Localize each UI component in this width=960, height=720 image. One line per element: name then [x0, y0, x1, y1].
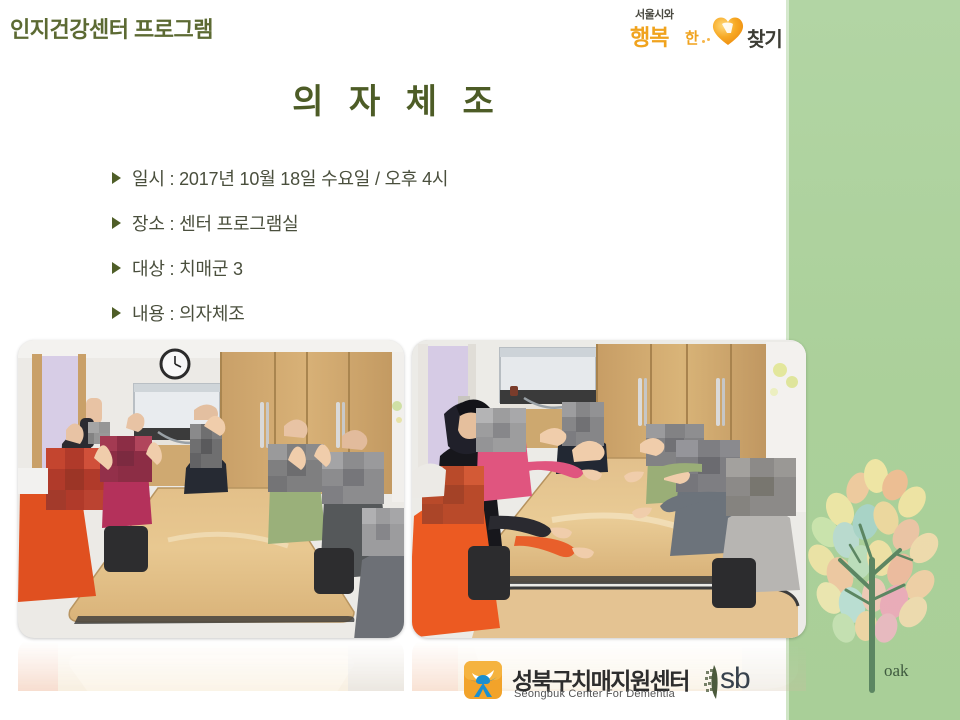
slide-main-title: 의 자 체 조 — [0, 74, 786, 123]
triangle-bullet-icon — [112, 172, 132, 184]
footer-logo-en-label: Seongbuk Center For Dementia — [514, 688, 675, 700]
list-item-label: 대상 : 치매군 3 — [132, 255, 243, 281]
seoul-happy-logo: 서울시와 행복 한 찾기 — [627, 6, 785, 50]
list-item-label: 내용 : 의자체조 — [132, 300, 245, 326]
page-title: 인지건강센터 프로그램 — [10, 12, 213, 44]
photo-left-reflection — [18, 639, 404, 691]
slide-canvas: oak 인지건강센터 프로그램 서울시와 행복 한 찾기 의 — [0, 0, 960, 720]
tree-word-label: oak — [884, 661, 909, 680]
person-check-logo-icon — [462, 659, 504, 701]
list-item-label: 일시 : 2017년 10월 18일 수요일 / 오후 4시 — [132, 165, 448, 191]
triangle-bullet-icon — [112, 217, 132, 229]
seoul-logo-find-label: 찾기 — [747, 23, 782, 52]
list-item-label: 장소 : 센터 프로그램실 — [132, 210, 298, 236]
list-item: 내용 : 의자체조 — [112, 290, 732, 335]
seoul-logo-happy-label: 행복 — [630, 20, 668, 52]
seongbuk-dementia-center-logo: 성북구치매지원센터 Seongbuk Center For Dementia s… — [462, 655, 762, 711]
program-info-list: 일시 : 2017년 10월 18일 수요일 / 오후 4시 장소 : 센터 프… — [112, 155, 732, 335]
list-item: 장소 : 센터 프로그램실 — [112, 200, 732, 245]
list-item: 일시 : 2017년 10월 18일 수요일 / 오후 4시 — [112, 155, 732, 200]
triangle-bullet-icon — [112, 307, 132, 319]
seoul-logo-han-label: 한 — [685, 27, 699, 48]
watercolor-tree-icon: oak — [800, 440, 950, 710]
sb-logo-icon: sb — [702, 661, 762, 703]
photo-right — [412, 340, 806, 638]
list-item: 대상 : 치매군 3 — [112, 245, 732, 290]
sb-logo-label: sb — [720, 662, 750, 696]
photo-left — [18, 340, 404, 638]
heart-icon — [710, 15, 746, 47]
triangle-bullet-icon — [112, 262, 132, 274]
